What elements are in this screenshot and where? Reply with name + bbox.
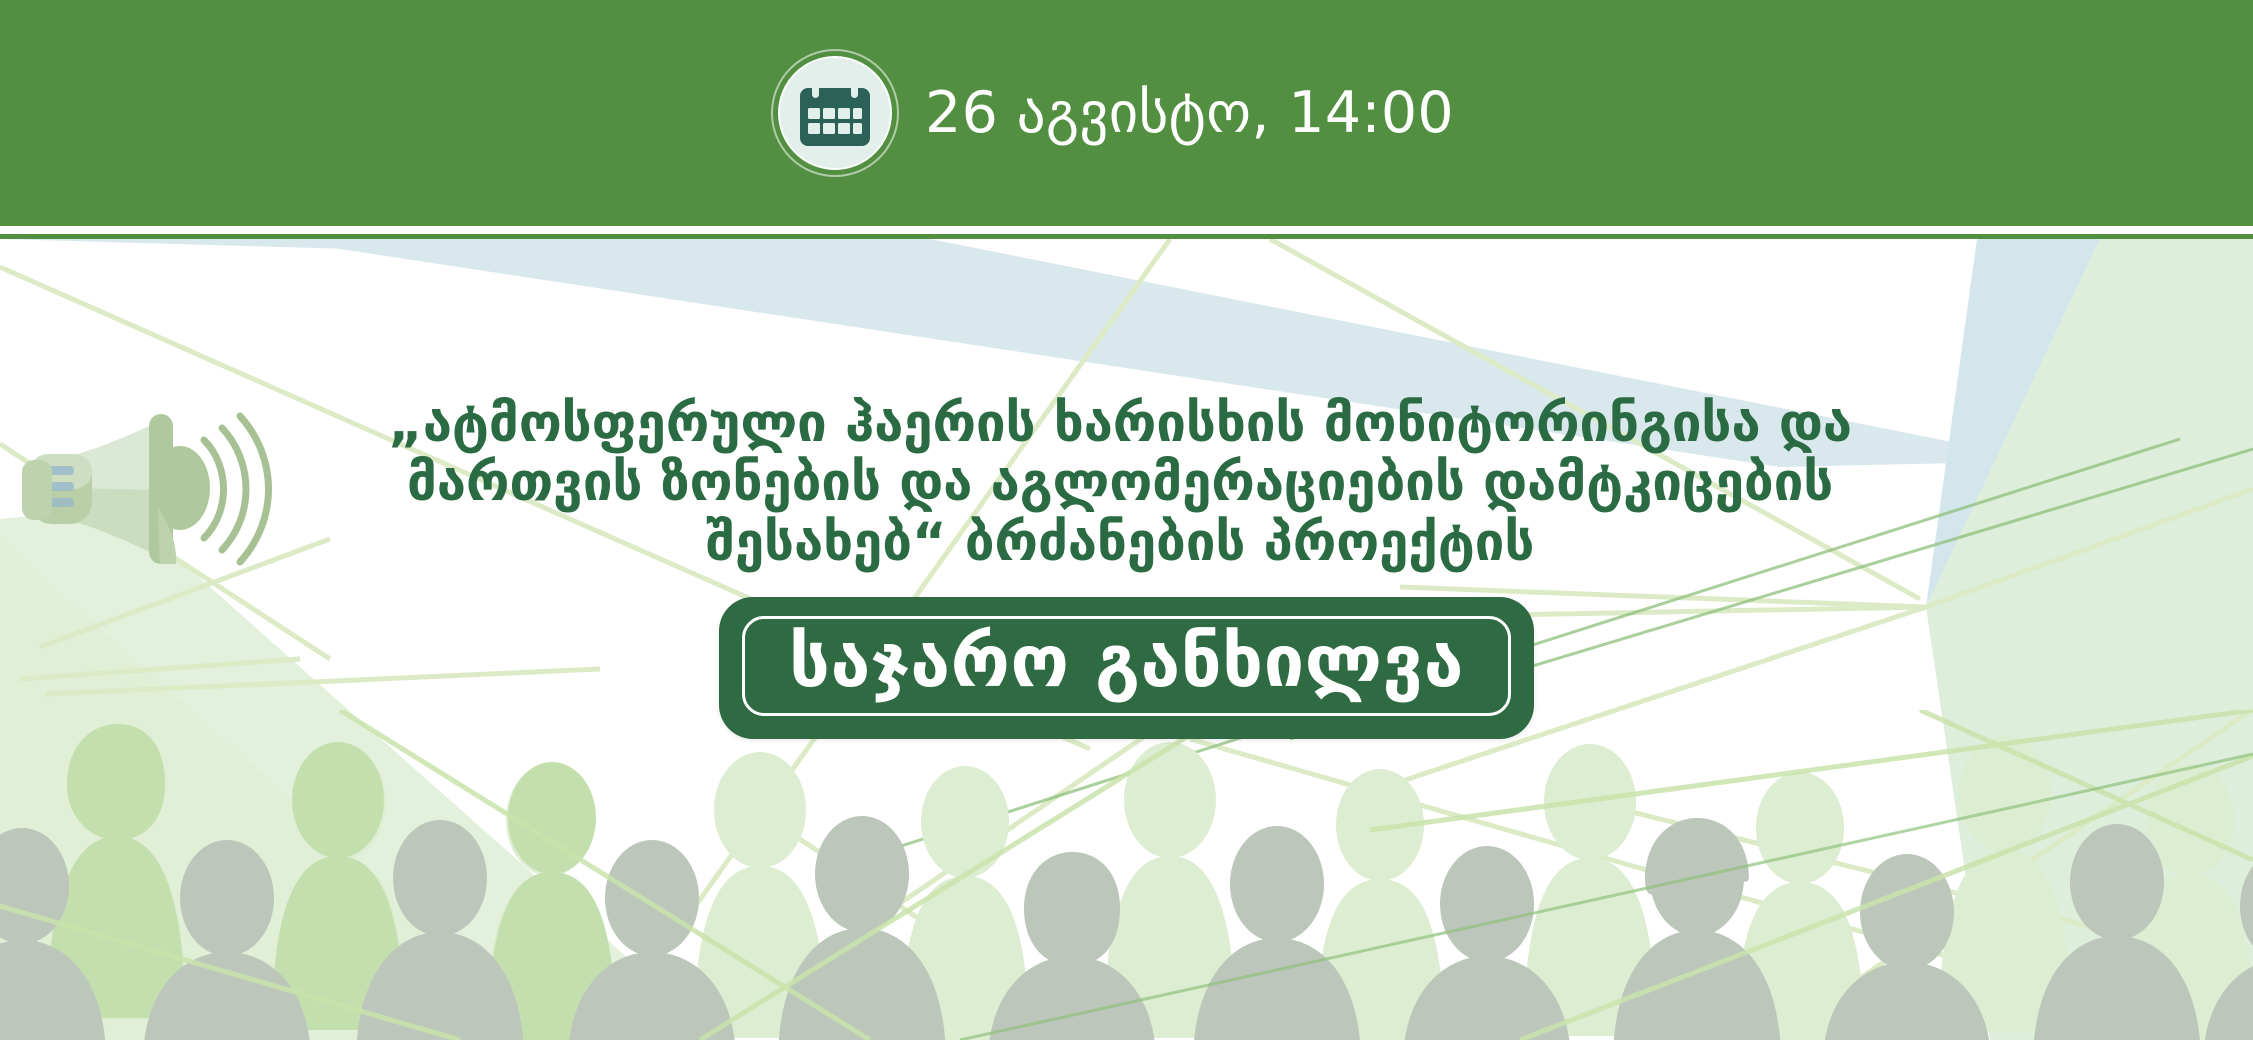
crowd-mid-row xyxy=(47,724,616,1040)
public-discussion-label: საჯარო განხილვა xyxy=(789,623,1464,701)
calendar-glyph xyxy=(798,78,872,148)
project-title-line-2: მართვის ზონების და აგლომერაციების დამტკი… xyxy=(300,453,1940,512)
project-title-line-3: შესახებ“ ბრძანების პროექტის xyxy=(300,513,1940,572)
project-title-line-1: „ატმოსფერული ჰაერის ხარისხის მონიტორინგი… xyxy=(300,394,1940,453)
calendar-icon xyxy=(771,49,899,177)
project-title: „ატმოსფერული ჰაერის ხარისხის მონიტორინგი… xyxy=(300,394,1940,572)
header-band: 26 აგვისტო, 14:00 xyxy=(0,0,2253,226)
public-discussion-badge-inner: საჯარო განხილვა xyxy=(742,616,1511,716)
header-separator-line xyxy=(0,234,2253,239)
audience-silhouettes xyxy=(0,710,2253,1040)
event-date-time: 26 აგვისტო, 14:00 xyxy=(925,85,1454,142)
poster-banner: 26 აგვისტო, 14:00 „ატმოსფერული ჰაერის ხა… xyxy=(0,0,2253,1040)
megaphone-icon xyxy=(8,388,308,588)
header-separator-gap xyxy=(0,226,2253,234)
public-discussion-badge[interactable]: საჯარო განხილვა xyxy=(719,597,1534,739)
header-inner: 26 აგვისტო, 14:00 xyxy=(771,49,1454,177)
public-discussion-badge-wrap: საჯარო განხილვა xyxy=(0,597,2253,739)
